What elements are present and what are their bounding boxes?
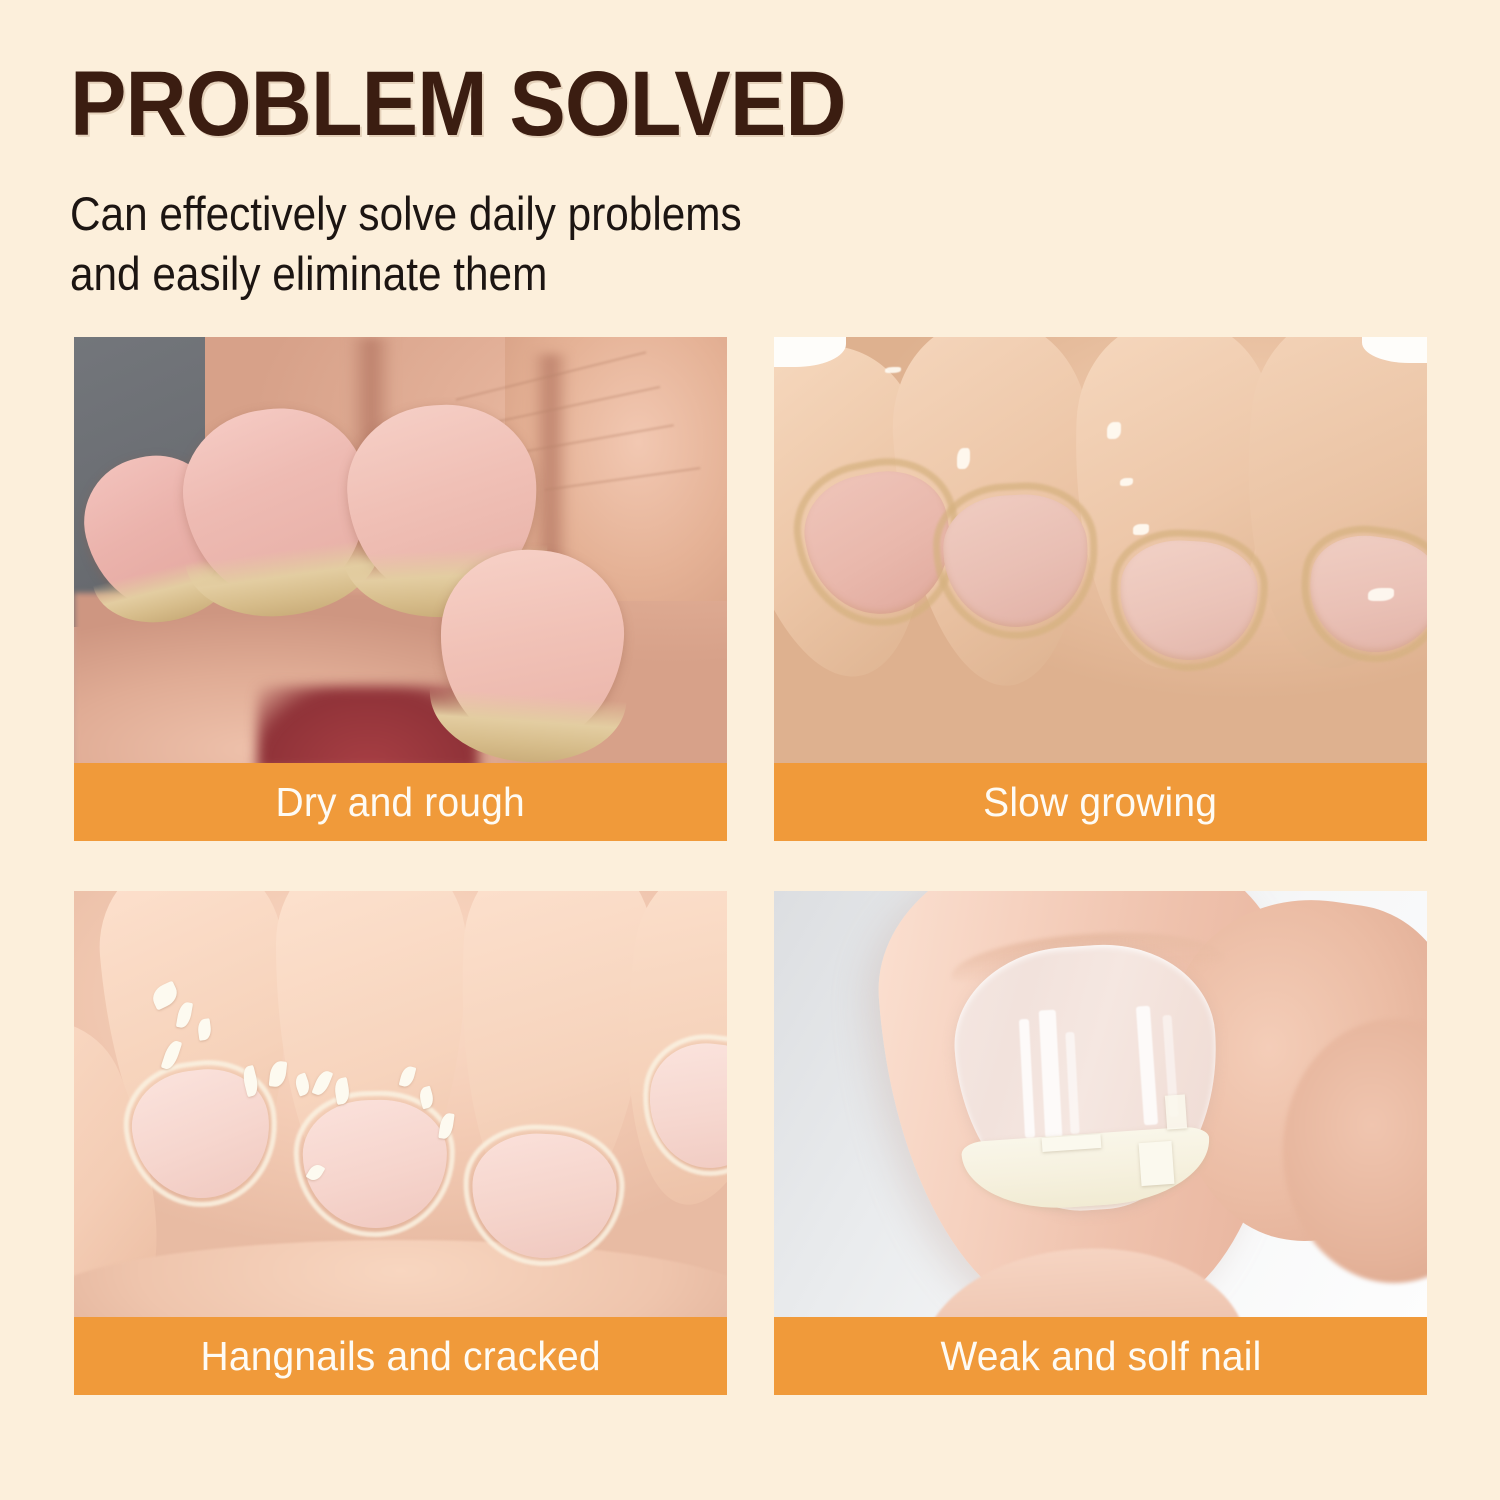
caption-bar-dry-and-rough: Dry and rough xyxy=(74,763,727,841)
caption-label: Hangnails and cracked xyxy=(200,1336,600,1377)
problem-card-hangnails-and-cracked: Hangnails and cracked xyxy=(74,891,727,1395)
page-title: PROBLEM SOLVED xyxy=(70,58,1321,150)
problem-card-slow-growing: Slow growing xyxy=(774,337,1427,841)
caption-label: Slow growing xyxy=(984,782,1218,823)
photo-slow-growing xyxy=(774,337,1427,763)
problem-card-weak-and-solf-nail: Weak and solf nail xyxy=(774,891,1427,1395)
caption-bar-hangnails-and-cracked: Hangnails and cracked xyxy=(74,1317,727,1395)
page-subtitle: Can effectively solve daily problems and… xyxy=(70,184,1294,304)
problem-card-grid: Dry and rough xyxy=(74,337,1427,1395)
header-block: PROBLEM SOLVED Can effectively solve dai… xyxy=(70,58,1430,304)
caption-bar-weak-and-solf-nail: Weak and solf nail xyxy=(774,1317,1427,1395)
infographic-page: PROBLEM SOLVED Can effectively solve dai… xyxy=(0,0,1500,1500)
caption-bar-slow-growing: Slow growing xyxy=(774,763,1427,841)
photo-dry-and-rough xyxy=(74,337,727,763)
problem-card-dry-and-rough: Dry and rough xyxy=(74,337,727,841)
photo-weak-and-solf-nail xyxy=(774,891,1427,1317)
caption-label: Weak and solf nail xyxy=(940,1336,1261,1377)
photo-hangnails-and-cracked xyxy=(74,891,727,1317)
caption-label: Dry and rough xyxy=(276,782,525,823)
